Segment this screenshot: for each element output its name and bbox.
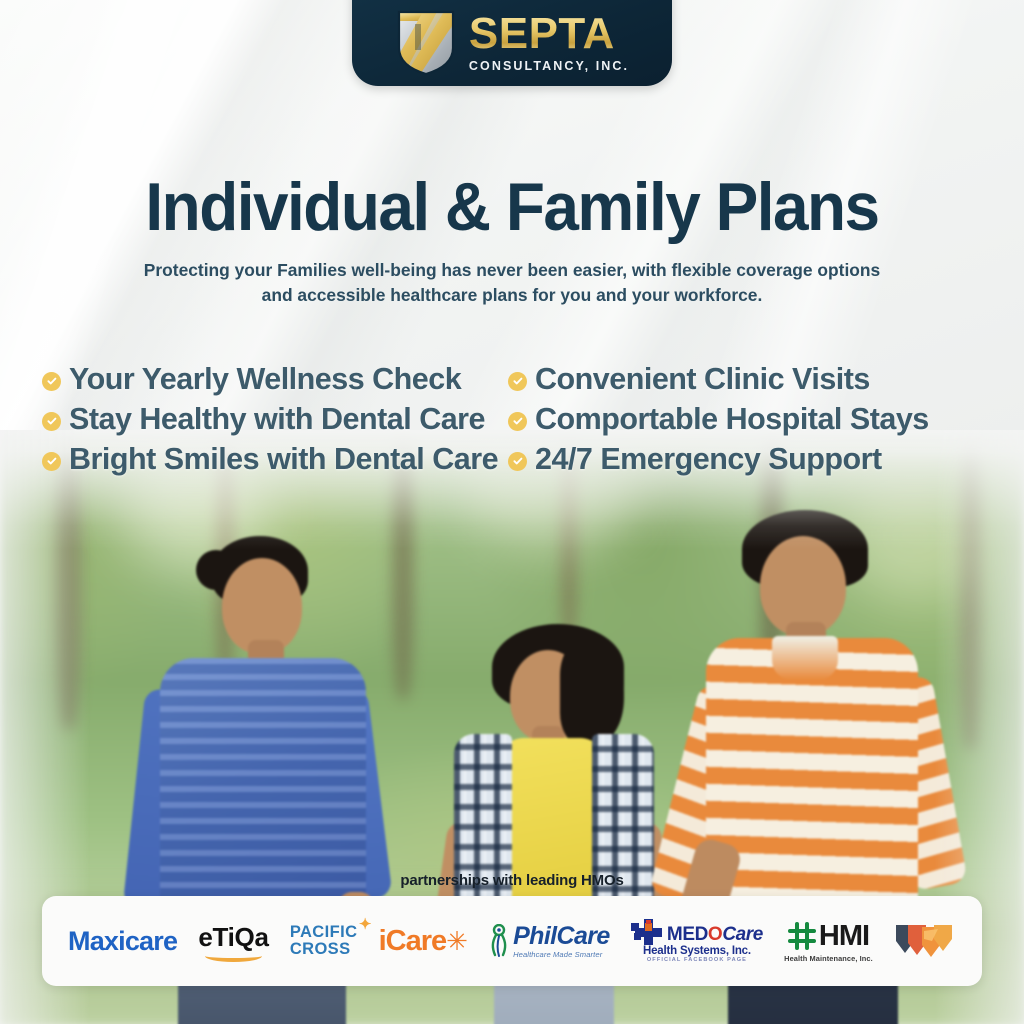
septa-wordmark: SEPTA CONSULTANCY, INC. bbox=[469, 12, 629, 73]
partner-logo-medocare[interactable]: MEDOCare Health Systems, Inc. OFFICIAL F… bbox=[631, 919, 763, 964]
polo-collar bbox=[772, 636, 838, 680]
ribbon-person-icon bbox=[489, 924, 509, 958]
sparkle-icon: ✦ bbox=[359, 917, 372, 932]
check-circle-icon bbox=[508, 372, 527, 391]
etiqa-wordmark: eTiQa bbox=[198, 922, 268, 952]
icare-wordmark: iCare bbox=[379, 925, 447, 958]
shield-icon bbox=[395, 8, 457, 76]
partner-logo-icare[interactable]: iCare ✳ bbox=[379, 925, 468, 958]
septa-subtitle: CONSULTANCY, INC. bbox=[469, 60, 629, 73]
feature-label: 24/7 Emergency Support bbox=[535, 442, 882, 477]
partner-logo-maxicare[interactable]: Maxicare bbox=[68, 926, 177, 957]
pacific-line2: CROSS bbox=[290, 941, 358, 958]
medical-cross-icon bbox=[631, 919, 665, 945]
hair-side bbox=[560, 640, 624, 744]
page-subtitle: Protecting your Families well-being has … bbox=[132, 258, 892, 308]
maxicare-wordmark: Maxicare bbox=[68, 926, 177, 957]
check-circle-icon bbox=[42, 412, 61, 431]
partner-logo-bar: Maxicare eTiQa PACIFIC CROSS ✦ iCare ✳ bbox=[42, 896, 982, 986]
pacific-line1: PACIFIC bbox=[290, 924, 358, 941]
partner-logo-pacific-cross[interactable]: PACIFIC CROSS ✦ bbox=[290, 924, 358, 958]
check-circle-icon bbox=[42, 372, 61, 391]
face bbox=[760, 536, 846, 636]
medocare-wordmark: MEDOCare bbox=[667, 925, 763, 945]
partner-logo-hmi[interactable]: HMI Health Maintenance, Inc. bbox=[784, 920, 873, 963]
hmi-subtitle: Health Maintenance, Inc. bbox=[784, 954, 873, 963]
feature-item: Stay Healthy with Dental Care bbox=[42, 402, 500, 437]
septa-logo-card[interactable]: SEPTA CONSULTANCY, INC. bbox=[352, 0, 672, 86]
partner-logo-w-chevron[interactable] bbox=[894, 921, 956, 961]
hashtag-cross-icon bbox=[788, 922, 816, 950]
check-circle-icon bbox=[508, 412, 527, 431]
feature-label: Comportable Hospital Stays bbox=[535, 402, 929, 437]
check-circle-icon bbox=[42, 452, 61, 471]
partner-logo-etiqa[interactable]: eTiQa bbox=[198, 922, 268, 960]
poster-canvas: SEPTA CONSULTANCY, INC. Individual & Fam… bbox=[0, 0, 1024, 1024]
asterisk-icon: ✳ bbox=[446, 926, 468, 957]
feature-item: Comportable Hospital Stays bbox=[508, 402, 1024, 437]
partner-logo-philcare[interactable]: PhilCare Healthcare Made Smarter bbox=[489, 923, 610, 958]
page-title: Individual & Family Plans bbox=[31, 168, 994, 246]
feature-column-right: Convenient Clinic Visits Comportable Hos… bbox=[500, 362, 1024, 477]
feature-item: 24/7 Emergency Support bbox=[508, 442, 1024, 477]
feature-item: Convenient Clinic Visits bbox=[508, 362, 1024, 397]
hmi-wordmark: HMI bbox=[819, 920, 869, 953]
smile-icon bbox=[205, 950, 261, 962]
feature-list: Your Yearly Wellness Check Stay Healthy … bbox=[0, 362, 1024, 477]
feature-column-left: Your Yearly Wellness Check Stay Healthy … bbox=[0, 362, 500, 477]
feature-label: Convenient Clinic Visits bbox=[535, 362, 870, 397]
feature-item: Your Yearly Wellness Check bbox=[42, 362, 500, 397]
feature-item: Bright Smiles with Dental Care bbox=[42, 442, 500, 477]
medocare-line3: OFFICIAL FACEBOOK PAGE bbox=[647, 958, 747, 964]
philcare-tagline: Healthcare Made Smarter bbox=[513, 951, 610, 959]
partners-caption: partnerships with leading HMOs bbox=[0, 872, 1024, 889]
feature-label: Your Yearly Wellness Check bbox=[69, 362, 461, 397]
medocare-line2: Health Systems, Inc. bbox=[643, 945, 751, 957]
w-chevron-icon bbox=[894, 921, 956, 961]
check-circle-icon bbox=[508, 452, 527, 471]
feature-label: Stay Healthy with Dental Care bbox=[69, 402, 485, 437]
feature-label: Bright Smiles with Dental Care bbox=[69, 442, 498, 477]
philcare-wordmark: PhilCare bbox=[513, 923, 610, 949]
septa-name: SEPTA bbox=[469, 12, 615, 56]
